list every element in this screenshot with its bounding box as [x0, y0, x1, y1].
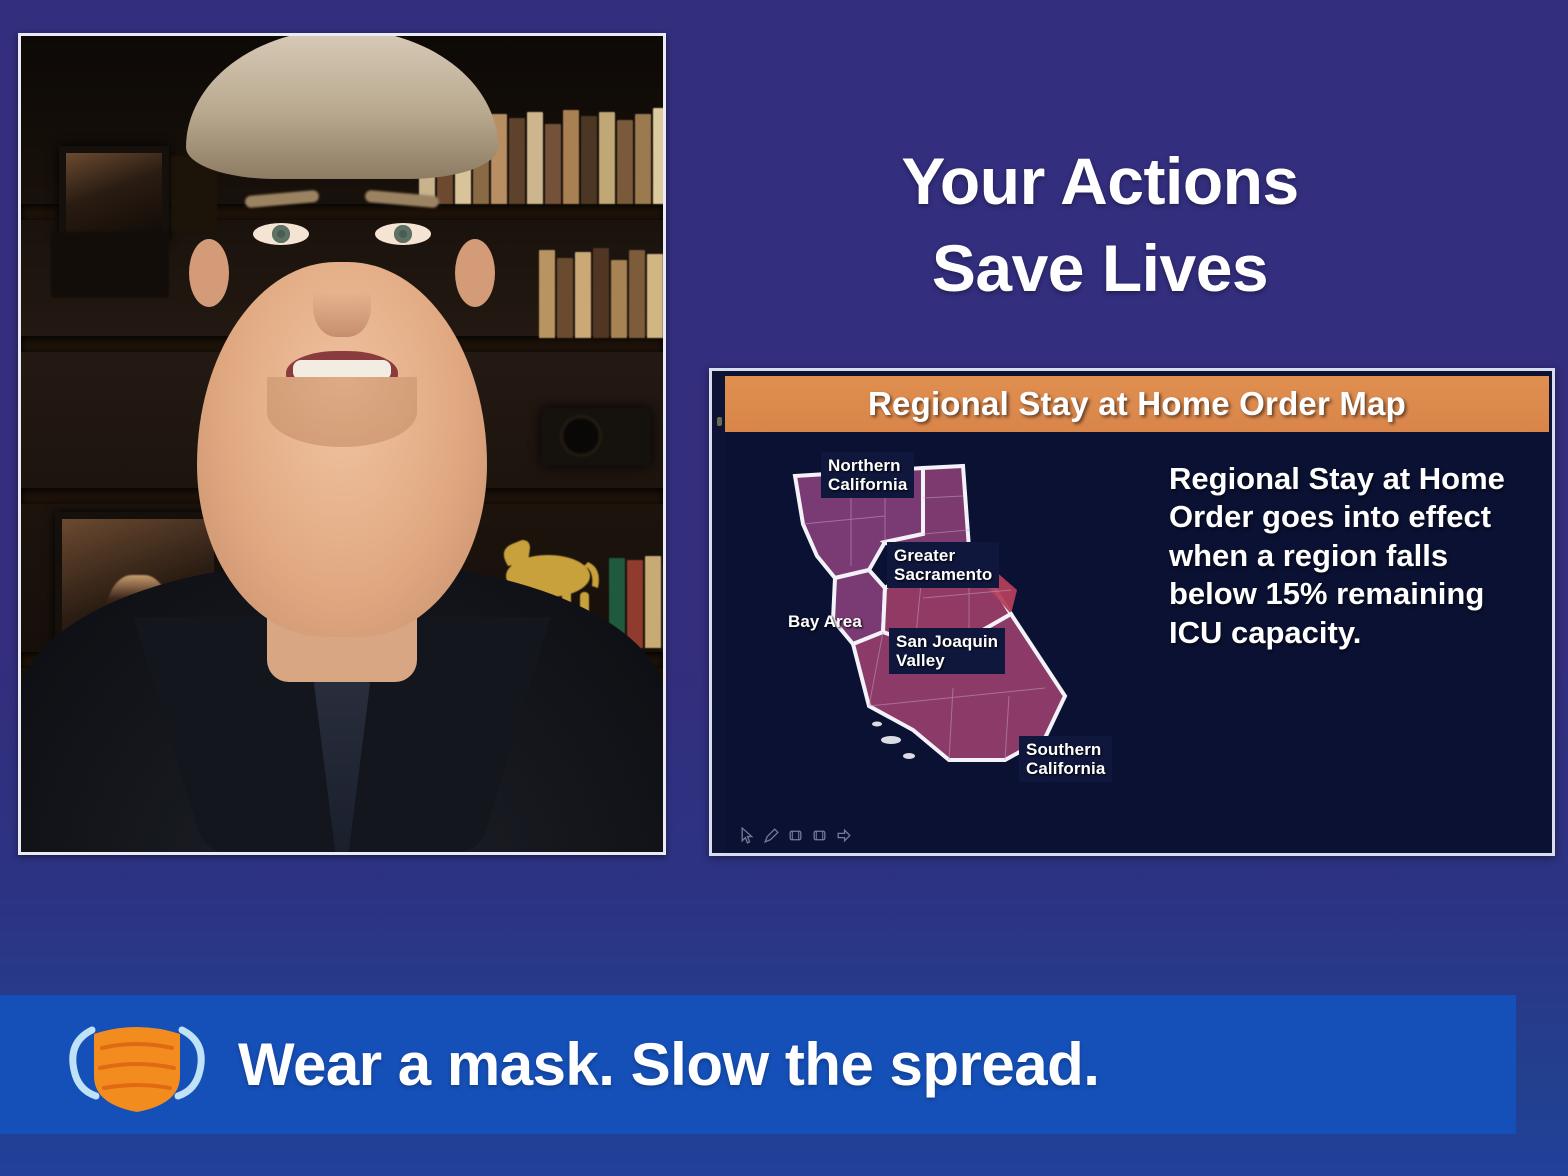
map-label-northern-california: Northern California [821, 452, 914, 498]
map-description-text: Regional Stay at Home Order goes into ef… [1169, 460, 1541, 652]
headline-line-2: Save Lives [700, 225, 1500, 312]
map-left-strip [712, 371, 725, 853]
map-header-title: Regional Stay at Home Order Map [725, 376, 1549, 432]
public-health-banner: Wear a mask. Slow the spread. [0, 995, 1516, 1134]
strip-marker-icon [717, 417, 722, 426]
pencil-icon[interactable] [763, 827, 780, 844]
face-mask-icon [62, 1012, 212, 1118]
speaker-figure [107, 52, 577, 852]
banner-message: Wear a mask. Slow the spread. [238, 1030, 1099, 1099]
stamp-icon[interactable] [787, 827, 804, 844]
arrow-icon[interactable] [835, 827, 852, 844]
map-label-southern-california: Southern California [1019, 736, 1112, 782]
map-label-san-joaquin-valley: San Joaquin Valley [889, 628, 1005, 674]
video-feed-content [21, 36, 663, 852]
map-body: Regional Stay at Home Order goes into ef… [725, 432, 1549, 850]
page-title: Your Actions Save Lives [700, 138, 1500, 312]
map-label-greater-sacramento: Greater Sacramento [887, 542, 999, 588]
headline-line-1: Your Actions [700, 138, 1500, 225]
video-feed-panel[interactable] [18, 33, 666, 855]
stamp-icon[interactable] [811, 827, 828, 844]
cursor-icon[interactable] [739, 827, 756, 844]
regional-map-panel[interactable]: Regional Stay at Home Order Map Regional… [709, 368, 1555, 856]
map-annotation-toolbar[interactable] [739, 827, 852, 844]
map-label-bay-area: Bay Area [781, 608, 869, 635]
